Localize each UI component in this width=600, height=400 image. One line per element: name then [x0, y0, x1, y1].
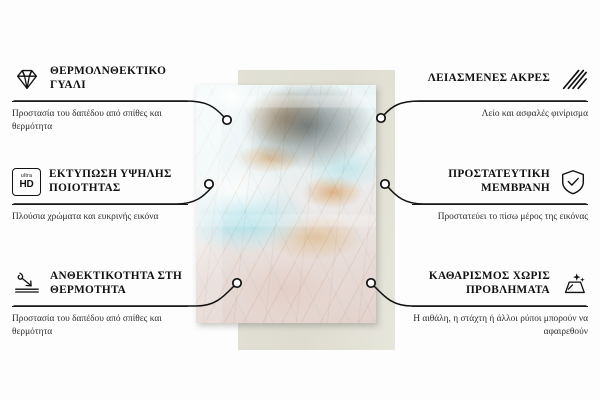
divider: [412, 101, 588, 102]
feature-title: ΠΡΟΣΤΑΤΕΥΤΙΚΗ ΜΕΜΒΡΑΝΗ: [412, 168, 550, 196]
feature-title: ΚΑΘΑΡΙΣΜΟΣ ΧΩΡΙΣ ΠΡΟΒΛΗΜΑΤΑ: [412, 270, 550, 298]
feature-heat-resistant-glass: ΘΕΡΜΟΛΝΘΕΚΤΙΚΟ ΓΥΑΛΙ Προστασία του δαπέδ…: [12, 62, 188, 134]
artwork-reflection-bands: [196, 85, 376, 323]
divider: [12, 306, 188, 307]
feature-easy-cleaning: ΚΑΘΑΡΙΣΜΟΣ ΧΩΡΙΣ ΠΡΟΒΛΗΜΑΤΑ Η αιθάλη, η …: [412, 267, 588, 339]
feature-header: ΑΝΘΕΚΤΙΚΟΤΗΤΑ ΣΤΗ ΘΕΡΜΟΤΗΤΑ: [12, 267, 188, 301]
diamond-icon: [12, 64, 42, 94]
feature-title: ΕΚΤΥΠΩΣΗ ΥΨΗΛΗΣ ΠΟΙΟΤΗΤΑΣ: [49, 168, 188, 196]
feature-description: Προστασία του δαπέδου από σπίθες και θερ…: [12, 313, 188, 339]
feature-description: Προστασία του δαπέδου από σπίθες και θερ…: [12, 108, 188, 134]
feature-description: Προστατεύει το πίσω μέρος της εικόνας: [412, 211, 588, 224]
divider: [12, 101, 188, 102]
feature-protective-membrane: ΠΡΟΣΤΑΤΕΥΤΙΚΗ ΜΕΜΒΡΑΝΗ Προστατεύει το πί…: [412, 165, 588, 224]
infographic-canvas: ΘΕΡΜΟΛΝΘΕΚΤΙΚΟ ΓΥΑΛΙ Προστασία του δαπέδ…: [0, 0, 600, 400]
divider: [412, 306, 588, 307]
polished-edge-icon: [558, 64, 588, 94]
feature-header: ΘΕΡΜΟΛΝΘΕΚΤΙΚΟ ΓΥΑΛΙ: [12, 62, 188, 96]
feature-header: ΛΕΙΑΣΜΕΝΕΣ ΑΚΡΕΣ: [412, 62, 588, 96]
ultra-hd-badge-icon: ultra HD: [12, 168, 41, 196]
feature-polished-edges: ΛΕΙΑΣΜΕΝΕΣ ΑΚΡΕΣ Λείο και ασφαλές φινίρι…: [412, 62, 588, 121]
flame-deflect-icon: [12, 269, 42, 299]
sparkle-clean-icon: [558, 269, 588, 299]
divider: [412, 204, 588, 205]
feature-heat-durability: ΑΝΘΕΚΤΙΚΟΤΗΤΑ ΣΤΗ ΘΕΡΜΟΤΗΤΑ Προστασία το…: [12, 267, 188, 339]
feature-high-quality-print: ultra HD ΕΚΤΥΠΩΣΗ ΥΨΗΛΗΣ ΠΟΙΟΤΗΤΑΣ Πλούσ…: [12, 165, 188, 224]
feature-description: Λείο και ασφαλές φινίρισμα: [412, 108, 588, 121]
shield-check-icon: [558, 167, 588, 197]
divider: [12, 204, 188, 205]
badge-hd-label: HD: [19, 180, 33, 190]
feature-title: ΘΕΡΜΟΛΝΘΕΚΤΙΚΟ ΓΥΑΛΙ: [50, 65, 188, 93]
feature-header: ultra HD ΕΚΤΥΠΩΣΗ ΥΨΗΛΗΣ ΠΟΙΟΤΗΤΑΣ: [12, 165, 188, 199]
feature-title: ΛΕΙΑΣΜΕΝΕΣ ΑΚΡΕΣ: [412, 72, 550, 86]
feature-description: Πλούσια χρώματα και ευκρινής εικόνα: [12, 211, 188, 224]
feature-title: ΑΝΘΕΚΤΙΚΟΤΗΤΑ ΣΤΗ ΘΕΡΜΟΤΗΤΑ: [50, 270, 188, 298]
feature-header: ΚΑΘΑΡΙΣΜΟΣ ΧΩΡΙΣ ΠΡΟΒΛΗΜΑΤΑ: [412, 267, 588, 301]
feature-header: ΠΡΟΣΤΑΤΕΥΤΙΚΗ ΜΕΜΒΡΑΝΗ: [412, 165, 588, 199]
feature-description: Η αιθάλη, η στάχτη ή άλλοι ρύποι μπορούν…: [412, 313, 588, 339]
glass-splashback-product: [196, 85, 376, 323]
